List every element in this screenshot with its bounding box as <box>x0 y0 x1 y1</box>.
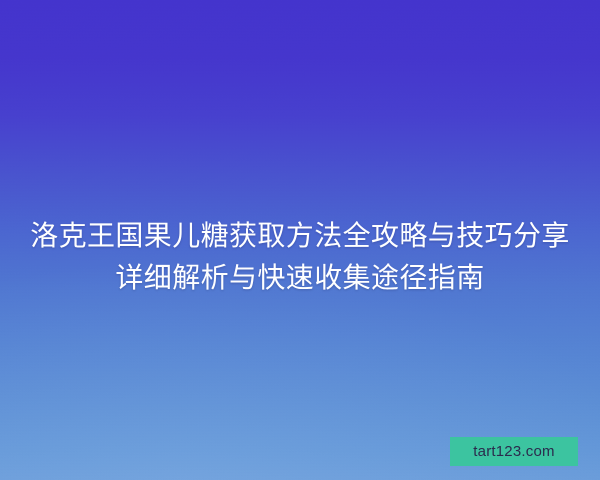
watermark-badge: tart123.com <box>450 437 578 466</box>
page-title: 洛克王国果儿糖获取方法全攻略与技巧分享详细解析与快速收集途径指南 <box>0 215 600 299</box>
watermark-label: tart123.com <box>473 444 554 459</box>
cover-image-canvas: 洛克王国果儿糖获取方法全攻略与技巧分享详细解析与快速收集途径指南 tart123… <box>0 0 600 480</box>
